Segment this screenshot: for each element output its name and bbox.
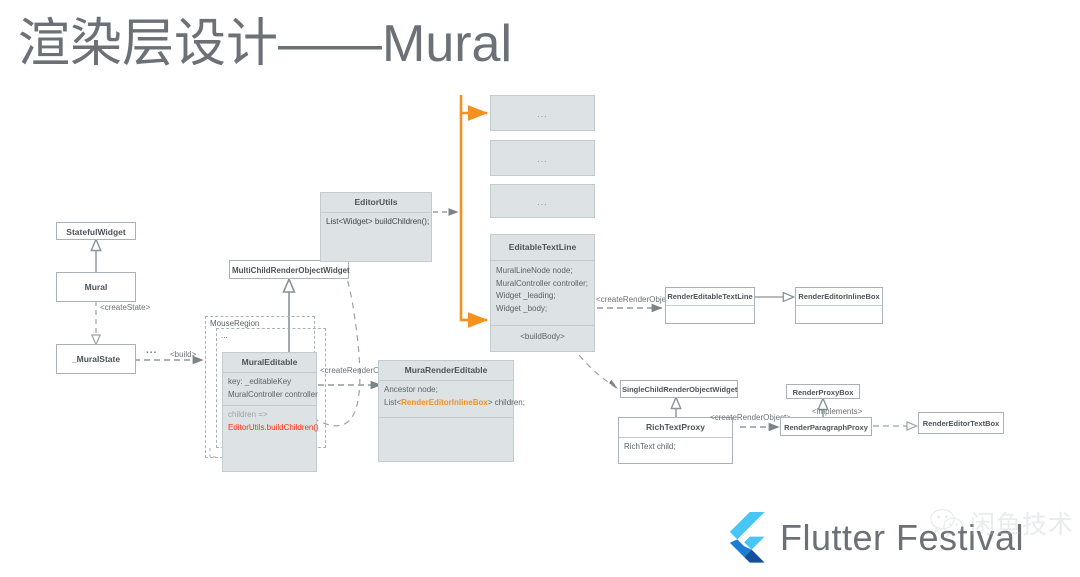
method: List<Widget> buildChildren();	[326, 216, 426, 229]
field: Ancestor node;	[384, 384, 508, 397]
class-box-render-editor-inline-box[interactable]: RenderEditorInlineBox	[795, 287, 883, 324]
class-title: RenderEditorInlineBox	[796, 288, 882, 305]
class-title: RenderEditorTextBox	[919, 413, 1003, 434]
field: Widget _body;	[496, 303, 589, 316]
page-title: 渲染层设计——Mural	[18, 8, 512, 80]
edge-label-build-dots: ...	[146, 345, 157, 356]
class-title: EditableTextLine	[491, 235, 594, 260]
flutter-logo-icon	[722, 512, 766, 564]
class-box-mural-state[interactable]: _MuralState	[56, 344, 136, 374]
class-title: RenderEditableTextLine	[666, 288, 754, 305]
class-box-placeholder-1[interactable]: ...	[490, 95, 595, 131]
class-title: SingleChildRenderObjectWidget	[621, 381, 737, 398]
edge-label-create-render-object-3: <createRenderObject>	[710, 413, 791, 422]
children-label: children =>	[228, 409, 311, 422]
placeholder-dots: ...	[491, 141, 594, 177]
edge-label-create-state: <createState>	[100, 303, 150, 312]
field: MuralController controller;	[496, 278, 589, 291]
watermark: 闲鱼技术	[930, 505, 1074, 541]
class-box-render-paragraph-proxy[interactable]: RenderParagraphProxy	[780, 417, 872, 436]
placeholder-dots: ...	[491, 96, 594, 132]
slide-canvas: 渲染层设计——Mural	[0, 0, 1080, 577]
class-title: Mural	[57, 273, 135, 297]
class-box-placeholder-2[interactable]: ...	[490, 140, 595, 176]
class-title: MuraRenderEditable	[379, 361, 513, 380]
class-box-mural-editable[interactable]: MuralEditable key: _editableKey MuralCon…	[222, 352, 317, 472]
class-title: MuralEditable	[223, 353, 316, 372]
class-box-stateful-widget[interactable]: StatefulWidget	[56, 222, 136, 240]
field: MuralLineNode node;	[496, 265, 589, 278]
class-box-render-editor-text-box[interactable]: RenderEditorTextBox	[918, 412, 1004, 434]
edge-label-implements: <implements>	[812, 407, 862, 416]
class-title: RenderParagraphProxy	[781, 418, 871, 437]
class-box-editable-text-line[interactable]: EditableTextLine MuralLineNode node; Mur…	[490, 234, 595, 352]
class-box-editor-utils[interactable]: EditorUtils List<Widget> buildChildren()…	[320, 192, 432, 262]
class-title: _MuralState	[57, 345, 135, 369]
class-box-render-proxy-box[interactable]: RenderProxyBox	[786, 384, 860, 399]
class-box-mural[interactable]: Mural	[56, 272, 136, 302]
field: key: _editableKey	[228, 376, 311, 389]
class-title: EditorUtils	[321, 193, 431, 212]
field: RichText child;	[624, 441, 727, 454]
field-generic: List<RenderEditorInlineBox> children;	[384, 397, 508, 410]
wechat-icon	[930, 509, 964, 537]
class-box-single-child-render-object-widget[interactable]: SingleChildRenderObjectWidget	[620, 380, 738, 398]
class-title: RenderProxyBox	[787, 385, 859, 400]
watermark-text: 闲鱼技术	[970, 505, 1074, 541]
children-call: EditorUtils.buildChildren()	[228, 422, 311, 435]
edge-label-build: <build>	[170, 350, 196, 359]
class-title: StatefulWidget	[57, 223, 135, 242]
class-box-render-editable-text-line[interactable]: RenderEditableTextLine	[665, 287, 755, 324]
field-prefix: List<	[384, 398, 401, 407]
container-inner-label: ...	[217, 329, 325, 342]
placeholder-dots: ...	[491, 185, 594, 219]
class-box-mura-render-editable[interactable]: MuraRenderEditable Ancestor node; List<R…	[378, 360, 514, 462]
class-box-multichild-render-object-widget[interactable]: MultiChildRenderObjectWidget	[229, 260, 349, 279]
field-suffix: > children;	[488, 398, 525, 407]
field-accent: RenderEditorInlineBox	[401, 398, 488, 407]
method-build-body: <buildBody>	[520, 332, 564, 341]
class-box-placeholder-3[interactable]: ...	[490, 184, 595, 218]
field: Widget _leading;	[496, 290, 589, 303]
class-box-rich-text-proxy[interactable]: RichTextProxy RichText child;	[618, 417, 733, 464]
class-title: MultiChildRenderObjectWidget	[230, 261, 348, 280]
field: MuralController controller	[228, 389, 311, 402]
